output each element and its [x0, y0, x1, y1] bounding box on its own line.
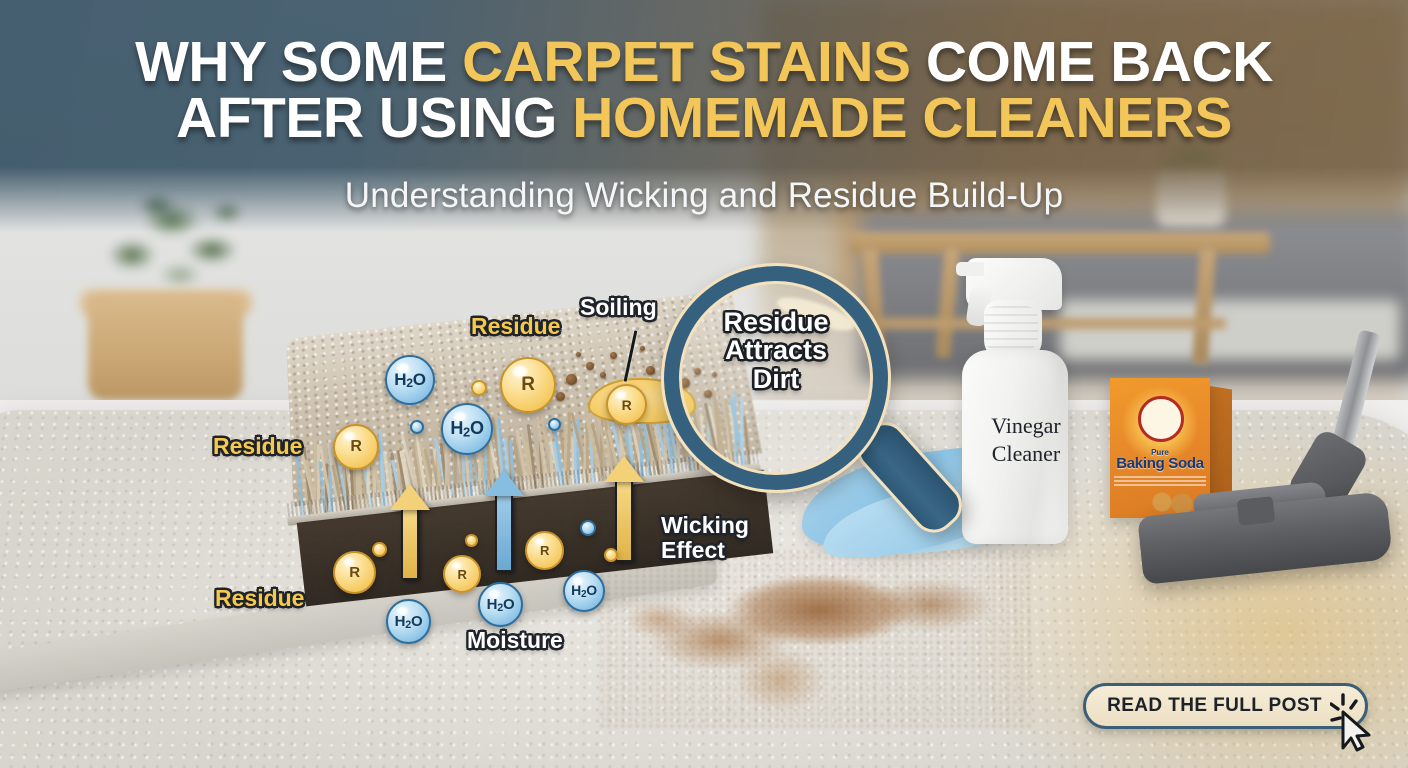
residue-bubble: R — [333, 424, 379, 470]
arrow-1-head — [390, 484, 430, 510]
residue-bubble: R — [606, 384, 647, 425]
dirt-particle — [646, 366, 655, 375]
label-residue-top: Residue — [471, 314, 560, 339]
residue-bubble: R — [333, 551, 376, 594]
dirt-particle — [586, 362, 594, 370]
wicking-effect-line-1: Wicking — [661, 513, 749, 538]
dirt-particle — [566, 374, 577, 385]
residue-letter: R — [540, 543, 549, 558]
title-run-2: COME BACK — [926, 30, 1273, 94]
dirt-particle — [610, 352, 617, 359]
water-molecule-bubble: H2O — [441, 403, 493, 455]
label-moisture: Moisture — [467, 628, 563, 653]
residue-bubble — [604, 548, 618, 562]
residue-letter: R — [349, 564, 360, 581]
read-the-full-post-button[interactable]: READ THE FULL POST — [1083, 683, 1368, 729]
arrow-3-head — [604, 456, 644, 482]
residue-bubble: R — [525, 531, 564, 570]
sofa-cushion — [1060, 300, 1400, 360]
cta-label: READ THE FULL POST — [1107, 695, 1344, 717]
wicking-effect-line-2: Effect — [661, 538, 749, 563]
page-subtitle: Understanding Wicking and Residue Build-… — [0, 176, 1408, 216]
magnifier-label-line-3: Dirt — [674, 365, 878, 393]
water-molecule-bubble: H2O — [563, 570, 605, 612]
title-line-2: AFTER USING HOMEMADE CLEANERS — [0, 90, 1408, 146]
arrow-1-shaft — [401, 508, 419, 580]
residue-letter: R — [457, 567, 466, 582]
residue-letter: R — [521, 374, 534, 396]
label-residue-bottom: Residue — [215, 586, 304, 611]
label-residue-left: Residue — [213, 434, 302, 459]
box-fine-print — [1114, 476, 1206, 488]
water-molecule-bubble: H2O — [385, 355, 435, 405]
label-wicking-effect: Wicking Effect — [661, 513, 749, 564]
h2o-text: H2O — [394, 370, 425, 390]
residue-bubble — [372, 542, 387, 557]
brown-carpet-stain — [600, 550, 1030, 730]
water-molecule-bubble — [410, 420, 424, 434]
water-molecule-bubble: H2O — [386, 599, 431, 644]
residue-bubble: R — [443, 555, 481, 593]
title-run-1: CARPET STAINS — [462, 30, 926, 94]
vinegar-cleaner-handwritten-label: Vinegar Cleaner — [978, 412, 1074, 467]
h2o-text: H2O — [450, 418, 483, 439]
dirt-particle — [600, 372, 606, 378]
stain-texture — [600, 550, 1030, 730]
magnifier-callout[interactable]: Residue Attracts Dirt — [664, 266, 964, 526]
water-molecule-bubble — [580, 520, 596, 536]
arm-and-hammer-logo — [1138, 396, 1184, 442]
arrow-2-head — [484, 470, 524, 496]
h2o-text: H2O — [571, 582, 597, 600]
title-run-1: HOMEMADE CLEANERS — [572, 86, 1232, 150]
h2o-text: H2O — [487, 596, 515, 614]
water-molecule-bubble: H2O — [478, 582, 523, 627]
title-run-0: AFTER USING — [176, 86, 572, 150]
vinegar-label-line-2: Cleaner — [978, 440, 1074, 468]
residue-letter: R — [622, 397, 632, 413]
label-soiling: Soiling — [580, 295, 657, 320]
spray-bottle-ribs — [984, 306, 1038, 350]
magnifier-label: Residue Attracts Dirt — [674, 308, 878, 393]
title-line-1: WHY SOME CARPET STAINS COME BACK — [0, 34, 1408, 90]
residue-bubble: R — [500, 357, 556, 413]
residue-letter: R — [350, 438, 361, 456]
magnifier-label-line-1: Residue — [674, 308, 878, 336]
box-title-text: Baking Soda — [1110, 455, 1210, 472]
infographic-root: Vinegar Cleaner Pure Baking Soda — [0, 0, 1408, 768]
mouse-cursor-click-icon — [1330, 692, 1376, 752]
dirt-particle — [576, 352, 581, 357]
vacuum-clip — [1237, 496, 1276, 526]
residue-bubble — [465, 534, 478, 547]
h2o-text: H2O — [395, 613, 423, 631]
page-title: WHY SOME CARPET STAINS COME BACK AFTER U… — [0, 34, 1408, 147]
magnifier-label-line-2: Attracts — [674, 336, 878, 364]
vinegar-label-line-1: Vinegar — [978, 412, 1074, 440]
dirt-particle — [556, 392, 565, 401]
water-molecule-bubble — [548, 418, 561, 431]
arrow-3-shaft — [615, 480, 633, 562]
dirt-particle — [640, 346, 645, 351]
arrow-2-shaft — [495, 494, 513, 572]
residue-bubble — [471, 380, 487, 396]
title-run-0: WHY SOME — [135, 30, 462, 94]
